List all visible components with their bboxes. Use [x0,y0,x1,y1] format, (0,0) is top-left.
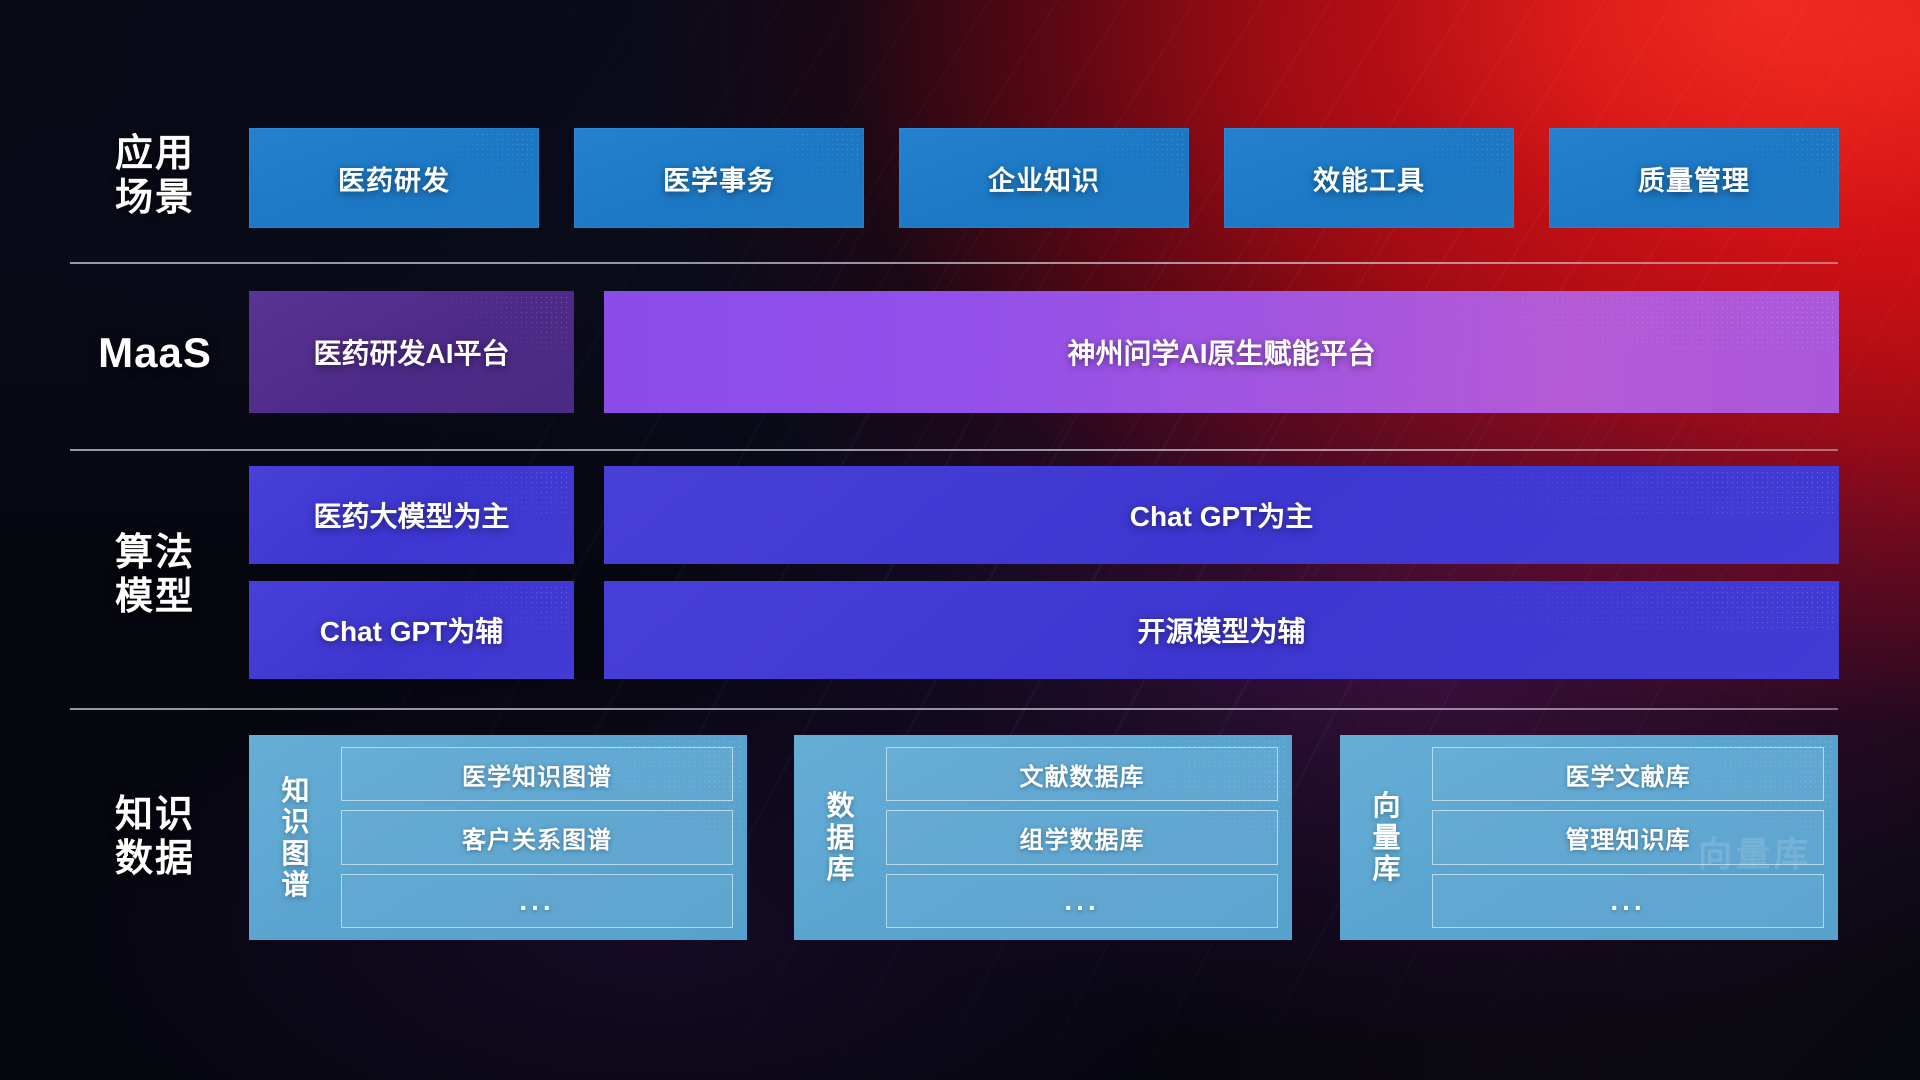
knowledge-item[interactable]: 管理知识库 [1432,810,1824,864]
title-char: 量 [1350,822,1424,853]
scenario-card-enterprise-knowledge[interactable]: 企业知识 [899,128,1189,228]
algorithm-card-label: 医药大模型为主 [313,495,509,535]
knowledge-group-items: 医学文献库 管理知识库 ... [1424,747,1824,928]
title-char: 图 [259,838,333,869]
algorithm-card-label: Chat GPT为辅 [320,610,504,650]
row-label-maas: MaaS [70,329,240,378]
scenario-card-efficiency-tools[interactable]: 效能工具 [1224,128,1514,228]
row-label-knowledge-data: 知识 数据 [70,793,240,881]
knowledge-item-more[interactable]: ... [1432,874,1824,928]
divider-scenarios-maas [70,262,1838,264]
knowledge-item-more[interactable]: ... [341,874,733,928]
knowledge-item[interactable]: 组学数据库 [886,810,1278,864]
divider-algorithms-knowledge [70,708,1838,710]
knowledge-group-title: 知 识 图 谱 [259,775,333,900]
knowledge-group-database[interactable]: 数 据 库 文献数据库 组学数据库 ... [794,735,1292,940]
slide-canvas: 应用 场景 医药研发 医学事务 企业知识 效能工具 质量管理 [0,0,1920,1080]
algorithm-card-label: 开源模型为辅 [1137,610,1305,650]
scenario-card-medical-affairs[interactable]: 医学事务 [574,128,864,228]
title-char: 向 [1350,790,1424,821]
row-label-line: MaaS [70,329,240,378]
sparkle-icon [1265,470,1833,515]
knowledge-item[interactable]: 客户关系图谱 [341,810,733,864]
divider-maas-algorithms [70,449,1838,451]
maas-card-shenzhou-wenxue-platform[interactable]: 神州问学AI原生赋能平台 [604,291,1839,413]
scenario-card-label: 医药研发 [338,159,450,198]
knowledge-group-title: 数 据 库 [804,790,878,884]
scenario-card-label: 医学事务 [663,159,775,198]
row-label-line: 应用 [70,132,240,176]
algorithm-card-chatgpt-primary[interactable]: Chat GPT为主 [604,466,1839,564]
row-label-line: 数据 [70,837,240,881]
scenario-card-quality-management[interactable]: 质量管理 [1549,128,1839,228]
algorithm-card-chatgpt-secondary[interactable]: Chat GPT为辅 [249,581,574,679]
scenario-card-label: 质量管理 [1638,159,1750,198]
title-char: 识 [259,806,333,837]
knowledge-item-more[interactable]: ... [886,874,1278,928]
row-label-application-scenarios: 应用 场景 [70,132,240,220]
knowledge-group-knowledge-graph[interactable]: 知 识 图 谱 医学知识图谱 客户关系图谱 ... [249,735,747,940]
maas-card-label: 医药研发AI平台 [313,332,509,372]
row-label-line: 知识 [70,793,240,837]
maas-card-label: 神州问学AI原生赋能平台 [1067,332,1375,372]
title-char: 库 [804,853,878,884]
row-label-line: 算法 [70,531,240,575]
scenario-card-label: 效能工具 [1313,159,1425,198]
title-char: 知 [259,775,333,806]
knowledge-group-title: 向 量 库 [1350,790,1424,884]
title-char: 谱 [259,869,333,900]
maas-card-pharma-ai-platform[interactable]: 医药研发AI平台 [249,291,574,413]
row-label-line: 场景 [70,176,240,220]
algorithm-card-opensource-secondary[interactable]: 开源模型为辅 [604,581,1839,679]
knowledge-item[interactable]: 医学知识图谱 [341,747,733,801]
knowledge-group-items: 医学知识图谱 客户关系图谱 ... [333,747,733,928]
knowledge-group-vector-store[interactable]: 向量库 向 量 库 医学文献库 管理知识库 ... [1340,735,1838,940]
title-char: 数 [804,790,878,821]
title-char: 据 [804,822,878,853]
scenario-card-medicine-rd[interactable]: 医药研发 [249,128,539,228]
scenario-card-label: 企业知识 [988,159,1100,198]
knowledge-item[interactable]: 文献数据库 [886,747,1278,801]
knowledge-item[interactable]: 医学文献库 [1432,747,1824,801]
title-char: 库 [1350,853,1424,884]
knowledge-group-items: 文献数据库 组学数据库 ... [878,747,1278,928]
row-label-line: 模型 [70,575,240,619]
algorithm-card-pharma-llm-primary[interactable]: 医药大模型为主 [249,466,574,564]
algorithm-card-label: Chat GPT为主 [1130,495,1314,535]
sparkle-icon [1265,585,1833,630]
row-label-algorithm-models: 算法 模型 [70,531,240,619]
